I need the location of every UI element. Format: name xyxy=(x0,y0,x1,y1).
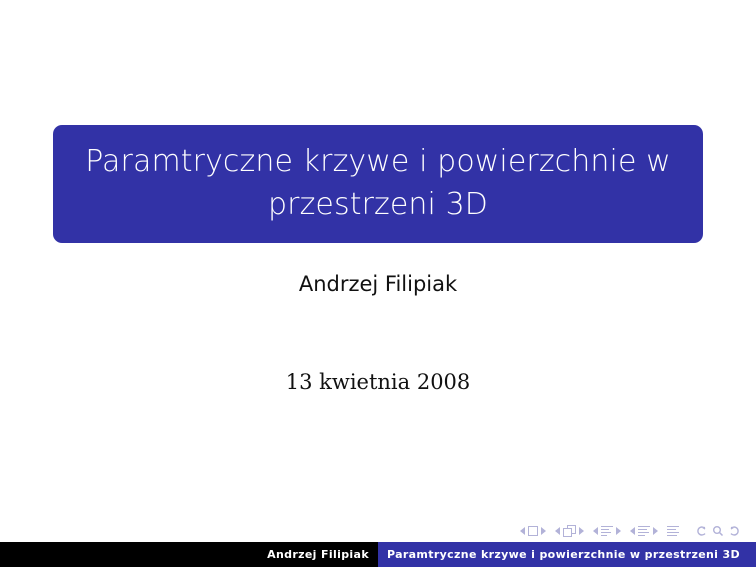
footer-author-section: Andrzej Filipiak xyxy=(0,542,378,567)
search-icon[interactable] xyxy=(712,525,724,537)
footer-bar: Andrzej Filipiak Paramtryczne krzywe i p… xyxy=(0,542,756,567)
author-name: Andrzej Filipiak xyxy=(0,272,756,296)
nav-group-slide[interactable] xyxy=(520,526,546,536)
presentation-slide: Paramtryczne krzywe i powierzchnie w prz… xyxy=(0,0,756,567)
subsection-icon[interactable] xyxy=(601,526,613,537)
nav-group-frame[interactable] xyxy=(555,525,584,537)
back-icon[interactable] xyxy=(696,525,708,537)
prev-section-icon[interactable] xyxy=(630,527,635,535)
footer-title-label: Paramtryczne krzywe i powierzchnie w prz… xyxy=(387,548,740,561)
document-icon[interactable] xyxy=(667,526,679,537)
nav-group-subsection[interactable] xyxy=(593,526,621,537)
prev-subsection-icon[interactable] xyxy=(593,527,598,535)
nav-group-document[interactable] xyxy=(667,526,679,537)
nav-group-tools[interactable] xyxy=(696,525,740,537)
page-title: Paramtryczne krzywe i powierzchnie w prz… xyxy=(77,141,679,226)
next-frame-icon[interactable] xyxy=(579,527,584,535)
section-icon[interactable] xyxy=(638,526,650,537)
navigation-symbols xyxy=(520,525,740,537)
next-slide-icon[interactable] xyxy=(541,527,546,535)
prev-slide-icon[interactable] xyxy=(520,527,525,535)
next-subsection-icon[interactable] xyxy=(616,527,621,535)
footer-title-section: Paramtryczne krzywe i powierzchnie w prz… xyxy=(378,542,756,567)
presentation-date: 13 kwietnia 2008 xyxy=(0,370,756,394)
footer-author-label: Andrzej Filipiak xyxy=(267,548,369,561)
prev-frame-icon[interactable] xyxy=(555,527,560,535)
slide-icon[interactable] xyxy=(528,526,538,536)
frame-icon[interactable] xyxy=(563,525,576,537)
nav-group-section[interactable] xyxy=(630,526,658,537)
title-block: Paramtryczne krzywe i powierzchnie w prz… xyxy=(53,125,703,243)
next-section-icon[interactable] xyxy=(653,527,658,535)
forward-icon[interactable] xyxy=(728,525,740,537)
